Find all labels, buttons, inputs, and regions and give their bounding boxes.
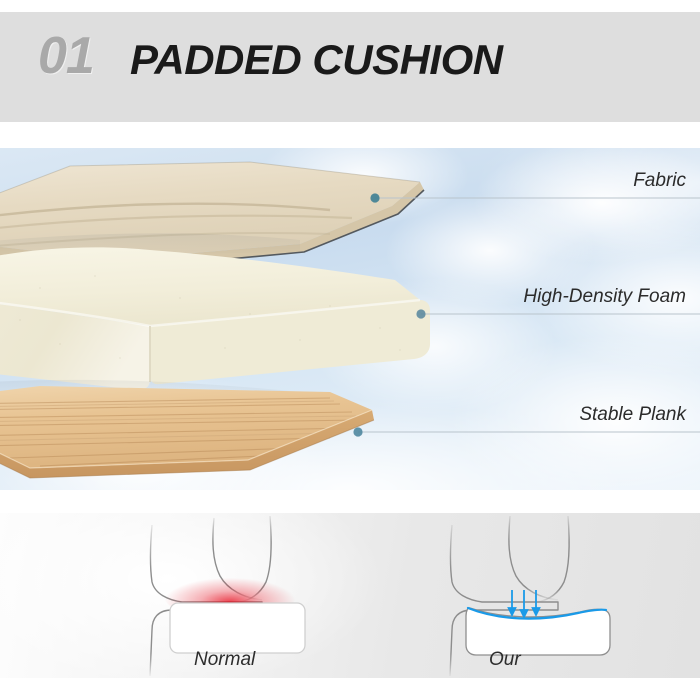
marker-dot-foam [416, 309, 425, 318]
comparison-item-our [450, 516, 610, 676]
marker-dot-plank [353, 427, 362, 436]
exploded-view-panel: Fabric High-Density Foam Stable Plank [0, 148, 700, 490]
exploded-layers-illustration [0, 148, 700, 490]
comparison-label-normal: Normal [194, 649, 255, 671]
section-number: 01 [38, 30, 94, 82]
comparison-illustration [0, 490, 700, 700]
comparison-panel: Normal Our [0, 490, 700, 700]
layer-label-foam: High-Density Foam [523, 286, 686, 308]
layer-plank [0, 380, 374, 478]
comparison-label-our: Our [489, 649, 521, 671]
layer-foam [0, 233, 430, 390]
layer-label-fabric: Fabric [633, 170, 686, 192]
marker-dot-fabric [370, 193, 379, 202]
page-title: PADDED CUSHION [130, 36, 503, 84]
layer-label-plank: Stable Plank [579, 404, 686, 426]
cushion-normal [170, 603, 305, 653]
